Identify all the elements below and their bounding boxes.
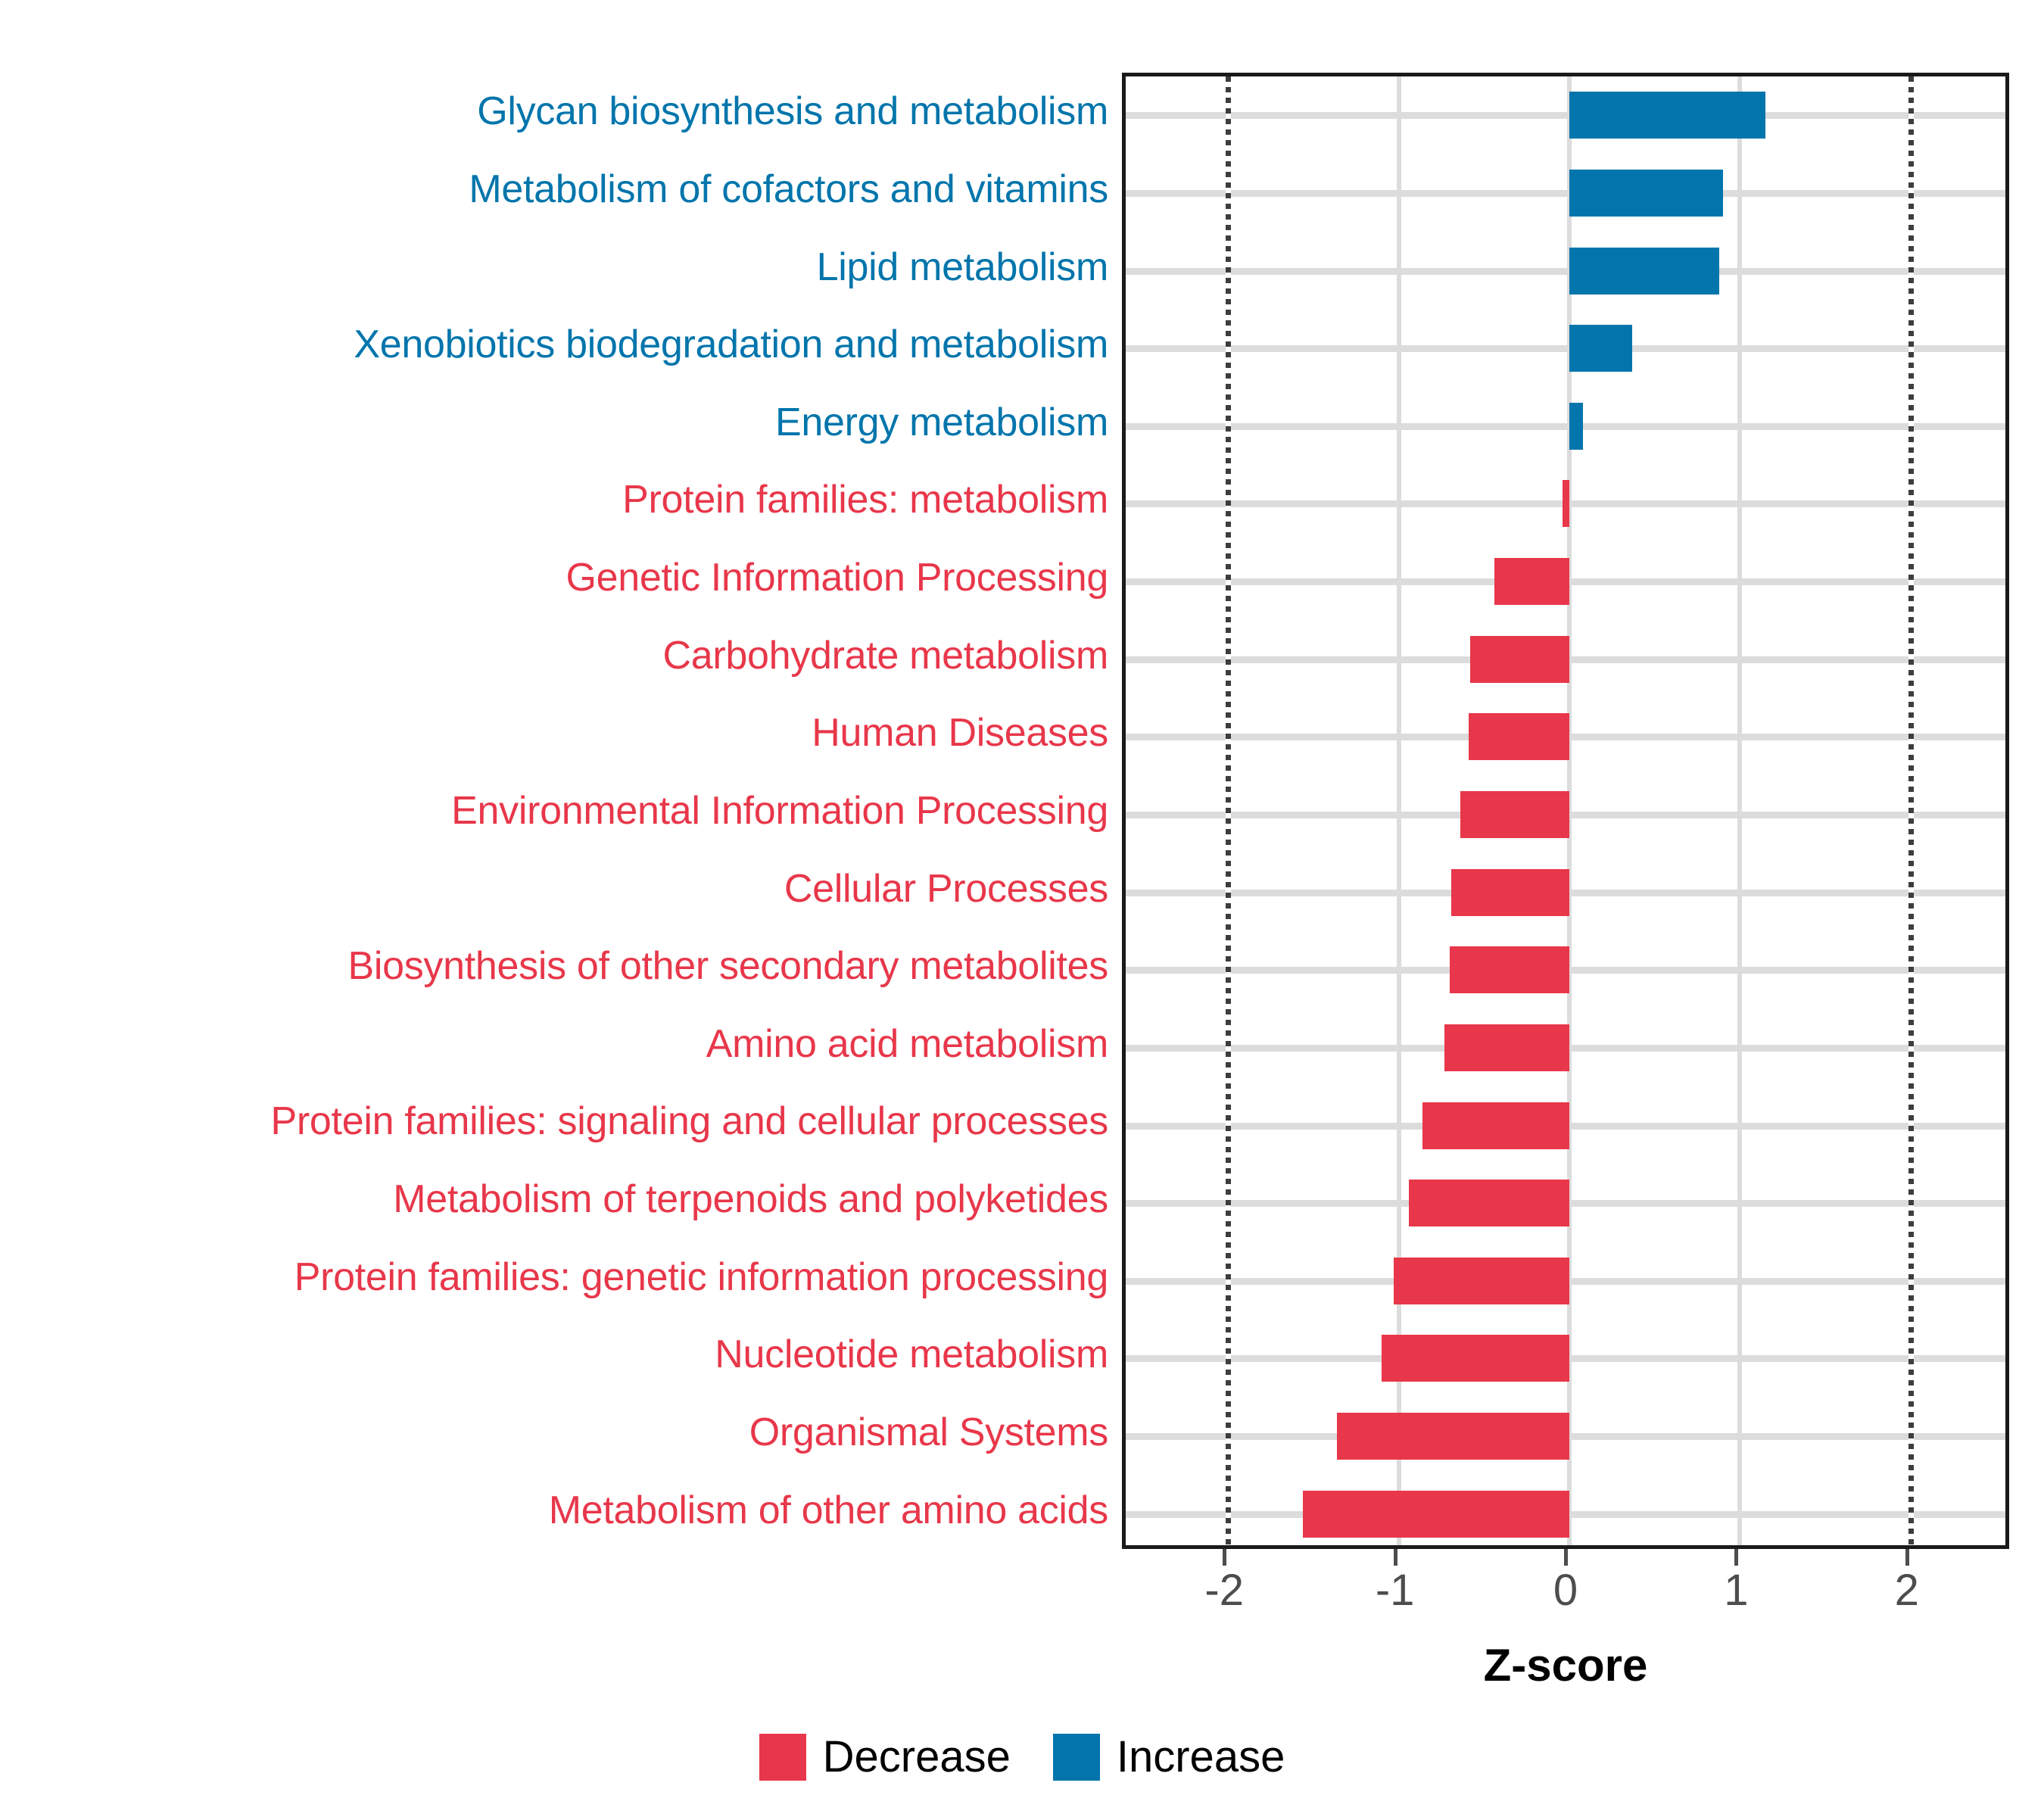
x-tick-mark (1564, 1549, 1568, 1566)
bars (1126, 76, 2005, 1545)
bar (1444, 1024, 1569, 1071)
x-tick-mark (1905, 1549, 1909, 1566)
category-label-row: Protein families: signaling and cellular… (0, 1083, 1122, 1161)
category-label-row: Protein families: metabolism (0, 461, 1122, 539)
category-label-row: Metabolism of terpenoids and polyketides (0, 1161, 1122, 1239)
category-label-row: Nucleotide metabolism (0, 1316, 1122, 1394)
category-label: Energy metabolism (775, 403, 1108, 442)
category-label-row: Organismal Systems (0, 1394, 1122, 1472)
category-label: Metabolism of other amino acids (549, 1491, 1108, 1530)
category-label-row: Amino acid metabolism (0, 1005, 1122, 1083)
category-label: Xenobiotics biodegradation and metabolis… (354, 325, 1108, 364)
category-label-row: Genetic Information Processing (0, 539, 1122, 617)
category-label-row: Metabolism of other amino acids (0, 1471, 1122, 1549)
category-label-row: Cellular Processes (0, 849, 1122, 927)
legend-swatch (1053, 1734, 1100, 1781)
bar (1569, 325, 1632, 372)
bar (1563, 480, 1569, 527)
category-label: Carbohydrate metabolism (663, 636, 1109, 675)
category-label-row: Glycan biosynthesis and metabolism (0, 73, 1122, 151)
legend: DecreaseIncrease (0, 1734, 2044, 1781)
category-label: Cellular Processes (784, 869, 1108, 908)
bar (1494, 558, 1569, 605)
category-label-row: Carbohydrate metabolism (0, 616, 1122, 694)
bar (1450, 946, 1569, 993)
category-label: Biosynthesis of other secondary metaboli… (347, 946, 1108, 986)
category-label-row: Human Diseases (0, 694, 1122, 772)
category-label: Lipid metabolism (817, 248, 1108, 287)
bar (1470, 636, 1569, 683)
x-axis-title: Z-score (1122, 1643, 2009, 1688)
bar (1569, 92, 1765, 139)
category-label: Human Diseases (812, 713, 1108, 753)
category-axis-labels: Glycan biosynthesis and metabolismMetabo… (0, 73, 1122, 1549)
category-label: Protein families: metabolism (622, 480, 1108, 519)
category-label: Metabolism of terpenoids and polyketides (393, 1180, 1108, 1219)
bar (1409, 1180, 1569, 1226)
bar (1394, 1258, 1569, 1304)
legend-item[interactable]: Increase (1053, 1734, 1285, 1781)
x-tick-label: 0 (1553, 1569, 1578, 1613)
bar (1569, 403, 1583, 450)
chart-figure: Glycan biosynthesis and metabolismMetabo… (0, 0, 2044, 1817)
category-label: Organismal Systems (749, 1413, 1108, 1452)
category-label: Nucleotide metabolism (715, 1335, 1108, 1374)
category-label: Genetic Information Processing (566, 558, 1108, 597)
x-tick-label: -1 (1376, 1569, 1415, 1613)
x-tick-mark (1394, 1549, 1397, 1566)
category-label: Metabolism of cofactors and vitamins (469, 170, 1108, 209)
bar (1451, 869, 1569, 916)
bar (1569, 248, 1719, 295)
x-tick-label: 2 (1895, 1569, 1919, 1613)
bar (1422, 1102, 1569, 1149)
legend-label: Increase (1117, 1735, 1285, 1779)
x-tick-mark (1223, 1549, 1226, 1566)
category-label-row: Biosynthesis of other secondary metaboli… (0, 927, 1122, 1005)
legend-item[interactable]: Decrease (759, 1734, 1011, 1781)
category-label: Protein families: genetic information pr… (294, 1258, 1108, 1297)
x-tick-label: -2 (1204, 1569, 1244, 1613)
legend-swatch (759, 1734, 806, 1781)
category-label-row: Lipid metabolism (0, 228, 1122, 306)
bar (1382, 1335, 1569, 1382)
bar (1469, 713, 1569, 760)
category-label-row: Metabolism of cofactors and vitamins (0, 151, 1122, 229)
category-label-row: Environmental Information Processing (0, 772, 1122, 850)
category-label: Protein families: signaling and cellular… (271, 1102, 1108, 1141)
category-label-row: Protein families: genetic information pr… (0, 1238, 1122, 1316)
legend-label: Decrease (823, 1735, 1011, 1779)
bar (1460, 791, 1569, 838)
category-label: Glycan biosynthesis and metabolism (477, 92, 1108, 131)
plot-panel (1122, 73, 2009, 1549)
x-tick-label: 1 (1724, 1569, 1748, 1613)
x-tick-mark (1734, 1549, 1738, 1566)
bar (1303, 1491, 1569, 1538)
category-label: Environmental Information Processing (451, 791, 1108, 831)
category-label: Amino acid metabolism (706, 1024, 1108, 1064)
category-label-row: Xenobiotics biodegradation and metabolis… (0, 306, 1122, 384)
category-label-row: Energy metabolism (0, 384, 1122, 462)
bar (1337, 1413, 1569, 1460)
bar (1569, 170, 1723, 217)
